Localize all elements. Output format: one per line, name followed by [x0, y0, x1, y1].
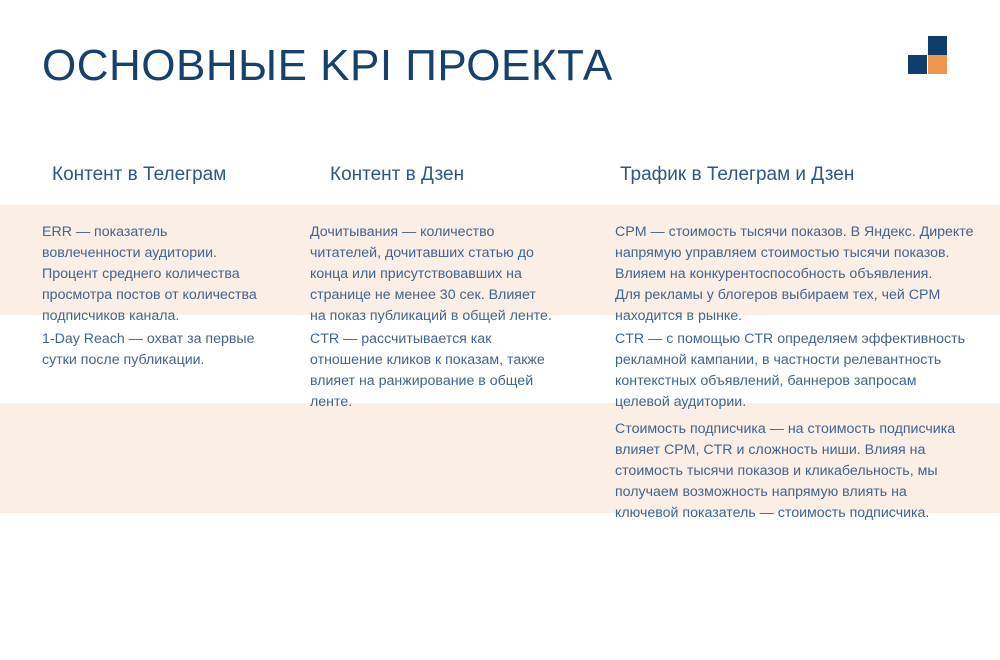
column-header-traffic: Трафик в Телеграм и Дзен [605, 148, 1000, 188]
slide-root: ОСНОВНЫЕ KPI ПРОЕКТА Контент в Телеграм … [0, 0, 1000, 660]
cell-empty-dzen [300, 403, 605, 513]
cell-subscriber-cost: Стоимость подписчика — на стоимость подп… [605, 403, 1000, 513]
kpi-table: Контент в Телеграм Контент в Дзен Трафик… [0, 148, 1000, 513]
cell-ctr-dzen: CTR — рассчитывается как отношение клико… [300, 315, 605, 403]
column-header-telegram-content: Контент в Телеграм [0, 148, 300, 188]
cell-one-day-reach: 1-Day Reach — охват за первые сутки посл… [0, 315, 300, 403]
column-header-dzen-content: Контент в Дзен [300, 148, 605, 188]
cell-cpm: CPM — стоимость тысячи показов. В Яндекс… [605, 205, 1000, 315]
cell-empty-telegram [0, 403, 300, 513]
table-row: 1-Day Reach — охват за первые сутки посл… [0, 315, 1000, 403]
page-title: ОСНОВНЫЕ KPI ПРОЕКТА [42, 38, 613, 94]
logo-square-navy-bottom [908, 55, 927, 74]
cell-dochityvaniya: Дочитывания — количество читателей, дочи… [300, 205, 605, 315]
table-header-row: Контент в Телеграм Контент в Дзен Трафик… [0, 148, 1000, 205]
brand-logo [908, 36, 948, 74]
table-row: Стоимость подписчика — на стоимость подп… [0, 403, 1000, 513]
cell-ctr-traffic: CTR — с помощью CTR определяем эффективн… [605, 315, 1000, 403]
logo-square-orange [928, 55, 947, 74]
table-row: ERR — показатель вовлеченности аудитории… [0, 205, 1000, 315]
cell-err: ERR — показатель вовлеченности аудитории… [0, 205, 300, 315]
logo-square-navy-top [928, 36, 947, 55]
